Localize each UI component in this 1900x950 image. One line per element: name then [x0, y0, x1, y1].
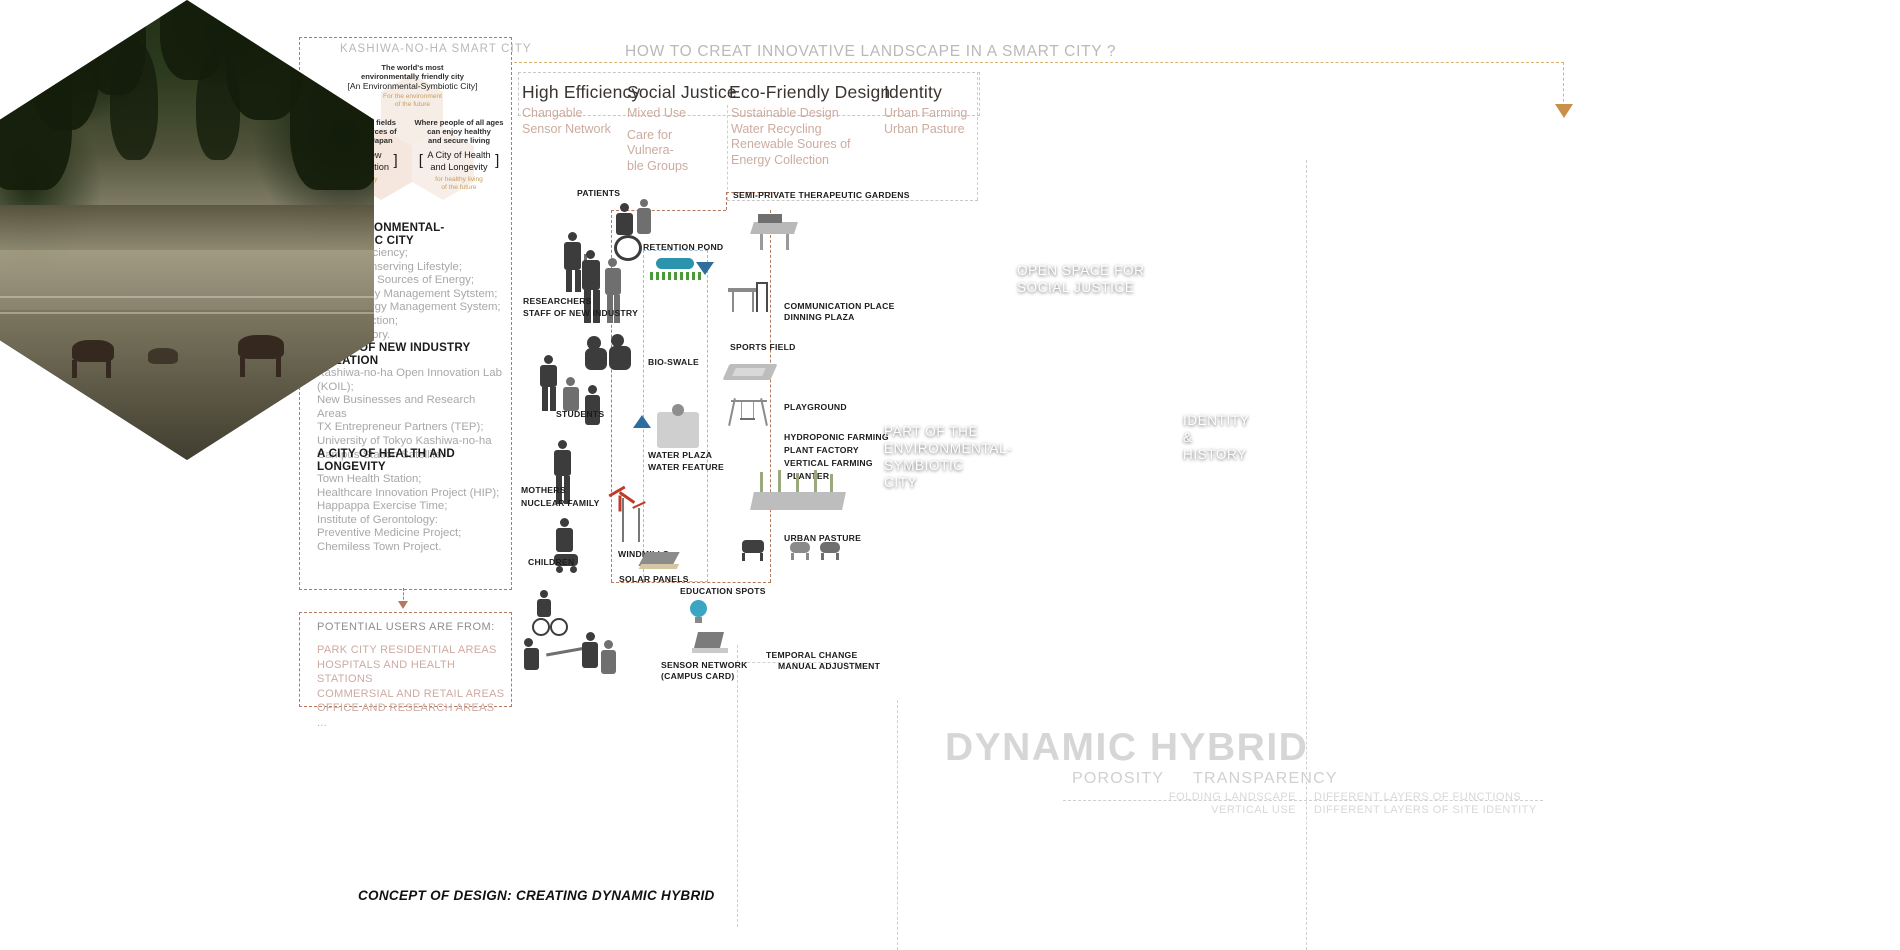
label-staff-new-industry: STAFF OF NEW INDUSTRY	[523, 308, 638, 318]
label-retention-pond: RETENTION POND	[643, 242, 723, 252]
inset-caption-line: of the future	[370, 101, 455, 109]
hexagon-text-line: PART OF THE	[884, 423, 1064, 440]
sensor-vertical-line	[737, 645, 738, 927]
hexagon-text-line: IDENTITY	[1183, 412, 1249, 429]
inset-caption-line: can enjoy healthy	[411, 127, 507, 136]
label-hydroponic-farming: HYDROPONIC FARMING	[784, 432, 889, 442]
hexagon-text-open-space: OPEN SPACE FOR SOCIAL JUSTICE	[1017, 262, 1144, 296]
bracket-right: ]	[495, 152, 499, 169]
info-block-new-industry: A CITY OF NEW INDUSTRY CREATION Kashiwa-…	[317, 341, 507, 462]
gold-divider-horizontal	[514, 62, 1564, 63]
label-education-spots: EDUCATION SPOTS	[680, 586, 766, 596]
livestock-icon	[742, 534, 842, 562]
inset-headline-bracket: [An Environmental-Symbiotic City]	[330, 80, 495, 92]
info-line: Kashiwa-no-ha Open Innovation Lab	[317, 367, 507, 381]
label-water-plaza: WATER PLAZA	[648, 450, 712, 460]
gold-divider-vertical	[1563, 62, 1564, 107]
layers-functions-label: DIFFERENT LAYERS OF FUNCTIONS	[1314, 791, 1521, 803]
info-block-health-longevity: A CITY OF HEALTH AND LONGEVITY Town Heal…	[317, 447, 507, 555]
potential-users-title: POTENTIAL USERS ARE FROM:	[317, 621, 495, 633]
label-communication-place: COMMUNICATION PLACE	[784, 301, 895, 311]
layers-identity-label: DIFFERENT LAYERS OF SITE IDENTITY	[1314, 804, 1537, 816]
label-plant-factory: PLANT FACTORY	[784, 445, 859, 455]
label-playground: PLAYGROUND	[784, 402, 847, 412]
label-nuclear-family: NUCLEAR FAMILY	[521, 498, 600, 508]
label-bio-swale: BIO-SWALE	[648, 357, 699, 367]
pond-vegetation-icon	[650, 272, 702, 280]
category-item: Renewable Soures of	[731, 137, 851, 153]
swing-set-icon	[727, 398, 777, 430]
label-students: STUDENTS	[556, 409, 604, 419]
porosity-label: POROSITY	[1072, 770, 1164, 787]
info-line: New Businesses and Research Areas	[317, 394, 507, 421]
category-item: Sustainable Design	[731, 106, 851, 122]
category-title-high-efficiency: High Efficiency	[522, 82, 640, 103]
lightbulb-icon	[686, 600, 712, 628]
category-item: ble Groups	[627, 159, 719, 175]
label-vertical-farming: VERTICAL FARMING	[784, 458, 873, 468]
windmill-icon	[602, 488, 654, 544]
info-line: TX Entrepreneur Partners (TEP);	[317, 421, 507, 435]
dynamic-hybrid-title: DYNAMIC HYBRID	[945, 726, 1308, 770]
label-patients: PATIENTS	[577, 188, 620, 198]
transparency-label: TRANSPARENCY	[1193, 770, 1338, 787]
info-block-title: A CITY OF HEALTH AND LONGEVITY	[317, 447, 507, 473]
hexagon-text-line: HISTORY	[1183, 446, 1249, 463]
bracket-right: ]	[393, 152, 397, 169]
route-line-top-v	[726, 192, 727, 210]
flow-arrow-down-icon	[696, 262, 714, 275]
people-group-seesaw	[524, 630, 634, 678]
category-separator-2	[977, 72, 978, 200]
category-title-social-justice: Social Justice	[627, 82, 737, 103]
water-feature-icon	[657, 412, 699, 448]
inset-caption-line: of the future	[411, 184, 507, 192]
label-sensor-network: SENSOR NETWORK	[661, 660, 748, 670]
hexagon-text-line: &	[1183, 429, 1249, 446]
user-line: COMMERSIAL AND RETAIL AREAS	[317, 687, 512, 702]
info-line: Happappa Exercise Time;	[317, 500, 507, 514]
label-sports-field: SPORTS FIELD	[730, 342, 796, 352]
potential-users-list: PARK CITY RESIDENTIAL AREAS HOSPITALS AN…	[317, 643, 512, 731]
inset-right-gold: for healthy living of the future	[411, 176, 507, 192]
laptop-icon	[692, 632, 730, 656]
info-line: Town Health Station;	[317, 473, 507, 487]
category-item: Energy Collection	[731, 153, 851, 169]
category-item: Water Recycling	[731, 122, 851, 138]
user-line: PARK CITY RESIDENTIAL AREAS	[317, 643, 512, 658]
inset-caption-line: and secure living	[411, 136, 507, 145]
label-semi-private-gardens: SEMI-PRIVATE THERAPEUTIC GARDENS	[733, 190, 910, 200]
label-dinning-plaza: DINNING PLAZA	[784, 312, 855, 322]
category-title-eco-friendly-design: Eco-Friendly Design	[729, 82, 890, 103]
hexagon-text-part-of-city: PART OF THE ENVIRONMENTAL-SYMBIOTIC CITY	[884, 423, 1064, 491]
info-line: Preventive Medicine Project;	[317, 527, 507, 541]
category-item: Sensor Network	[522, 122, 611, 138]
sports-field-icon	[726, 356, 782, 386]
category-item: Care for Vulnera-	[627, 128, 719, 159]
category-title-identity: Identity	[884, 82, 942, 103]
hexagon-text-line: SOCIAL JUSTICE	[1017, 279, 1144, 296]
info-line: Chemiless Town Project.	[317, 541, 507, 555]
info-block-body: Town Health Station; Healthcare Innovati…	[317, 473, 507, 555]
hexagon-text-identity-history: IDENTITY & HISTORY	[1183, 412, 1249, 463]
label-children: CHILDREN	[528, 557, 574, 567]
label-manual-adjustment: MANUAL ADJUSTMENT	[778, 661, 880, 671]
label-water-feature: WATER FEATURE	[648, 462, 724, 472]
info-line: Healthcare Innovation Project (HIP);	[317, 487, 507, 501]
user-line: ...	[317, 716, 512, 731]
hexagon-text-line: CITY	[884, 474, 1064, 491]
inset-headline-line: The world's most	[330, 63, 495, 72]
category-items-eco-friendly: Sustainable Design Water Recycling Renew…	[731, 106, 851, 168]
bracket-left: [	[419, 152, 423, 169]
label-mothers: MOTHERS	[521, 485, 566, 495]
vertical-use-label: VERTICAL USE	[1156, 804, 1296, 816]
people-group-stroller	[548, 518, 604, 578]
user-line: HOSPITALS AND HEALTH STATIONS	[317, 658, 512, 687]
inset-caption-line: For the environment	[370, 93, 455, 101]
route-line-right-v	[770, 210, 771, 582]
inset-caption-line: Where people of all ages	[411, 118, 507, 127]
inset-label-line: A City of Health	[427, 149, 490, 161]
category-item: Urban Pasture	[884, 122, 967, 138]
inset-top-caption: For the environment of the future	[370, 93, 455, 109]
inset-label-line: and Longevity	[427, 161, 490, 173]
info-line: Institute of Gerontology:	[317, 514, 507, 528]
user-line: OFFICE AND RESEARCH AREAS	[317, 701, 512, 716]
category-separator-1	[727, 105, 728, 200]
inset-caption-line: for healthy living	[411, 176, 507, 184]
label-solar-panels: SOLAR PANELS	[619, 574, 689, 584]
inset-right-label: [ A City of Health and Longevity ]	[411, 149, 507, 173]
folding-landscape-label: FOLDING LANDSCAPE	[1156, 791, 1296, 803]
category-items-identity: Urban Farming Urban Pasture	[884, 106, 967, 137]
vertical-axis-line	[1306, 160, 1307, 950]
label-temporal-change: TEMPORAL CHANGE	[766, 650, 857, 660]
flow-arrow-up-icon	[633, 415, 651, 428]
label-campus-card: (CAMPUS CARD)	[661, 671, 734, 681]
info-line: (KOIL);	[317, 381, 507, 395]
category-item: Mixed Use	[627, 106, 719, 122]
hexagon-text-line: ENVIRONMENTAL-SYMBIOTIC	[884, 440, 1064, 474]
garden-bed-icon	[752, 212, 800, 252]
table-chairs-icon	[726, 282, 774, 318]
panel-connector-arrow-icon	[398, 601, 408, 609]
vertical-axis-line-secondary	[897, 700, 898, 950]
pond-water-icon	[656, 258, 694, 269]
category-item: Changable	[522, 106, 611, 122]
page-question-title: HOW TO CREAT INNOVATIVE LANDSCAPE IN A S…	[625, 43, 1425, 61]
concept-caption: CONCEPT OF DESIGN: CREATING DYNAMIC HYBR…	[358, 888, 715, 903]
solar-panel-icon	[642, 548, 682, 572]
porosity-transparency-row: POROSITY TRANSPARENCY	[1072, 770, 1338, 788]
category-items-high-efficiency: Changable Sensor Network	[522, 106, 611, 137]
hexagon-text-line: OPEN SPACE FOR	[1017, 262, 1144, 279]
category-items-social-justice: Mixed Use Care for Vulnera- ble Groups	[627, 106, 719, 174]
category-item: Urban Farming	[884, 106, 967, 122]
inset-title: KASHIWA-NO-HA SMART CITY	[340, 43, 532, 55]
inset-headline: The world's most environmentally friendl…	[330, 63, 495, 81]
inset-right-caption: Where people of all ages can enjoy healt…	[411, 118, 507, 145]
gold-arrow-icon	[1555, 104, 1573, 118]
water-jet-icon	[672, 404, 684, 416]
label-researchers: RESEARCHERS	[523, 296, 592, 306]
planter-icon	[752, 470, 846, 514]
